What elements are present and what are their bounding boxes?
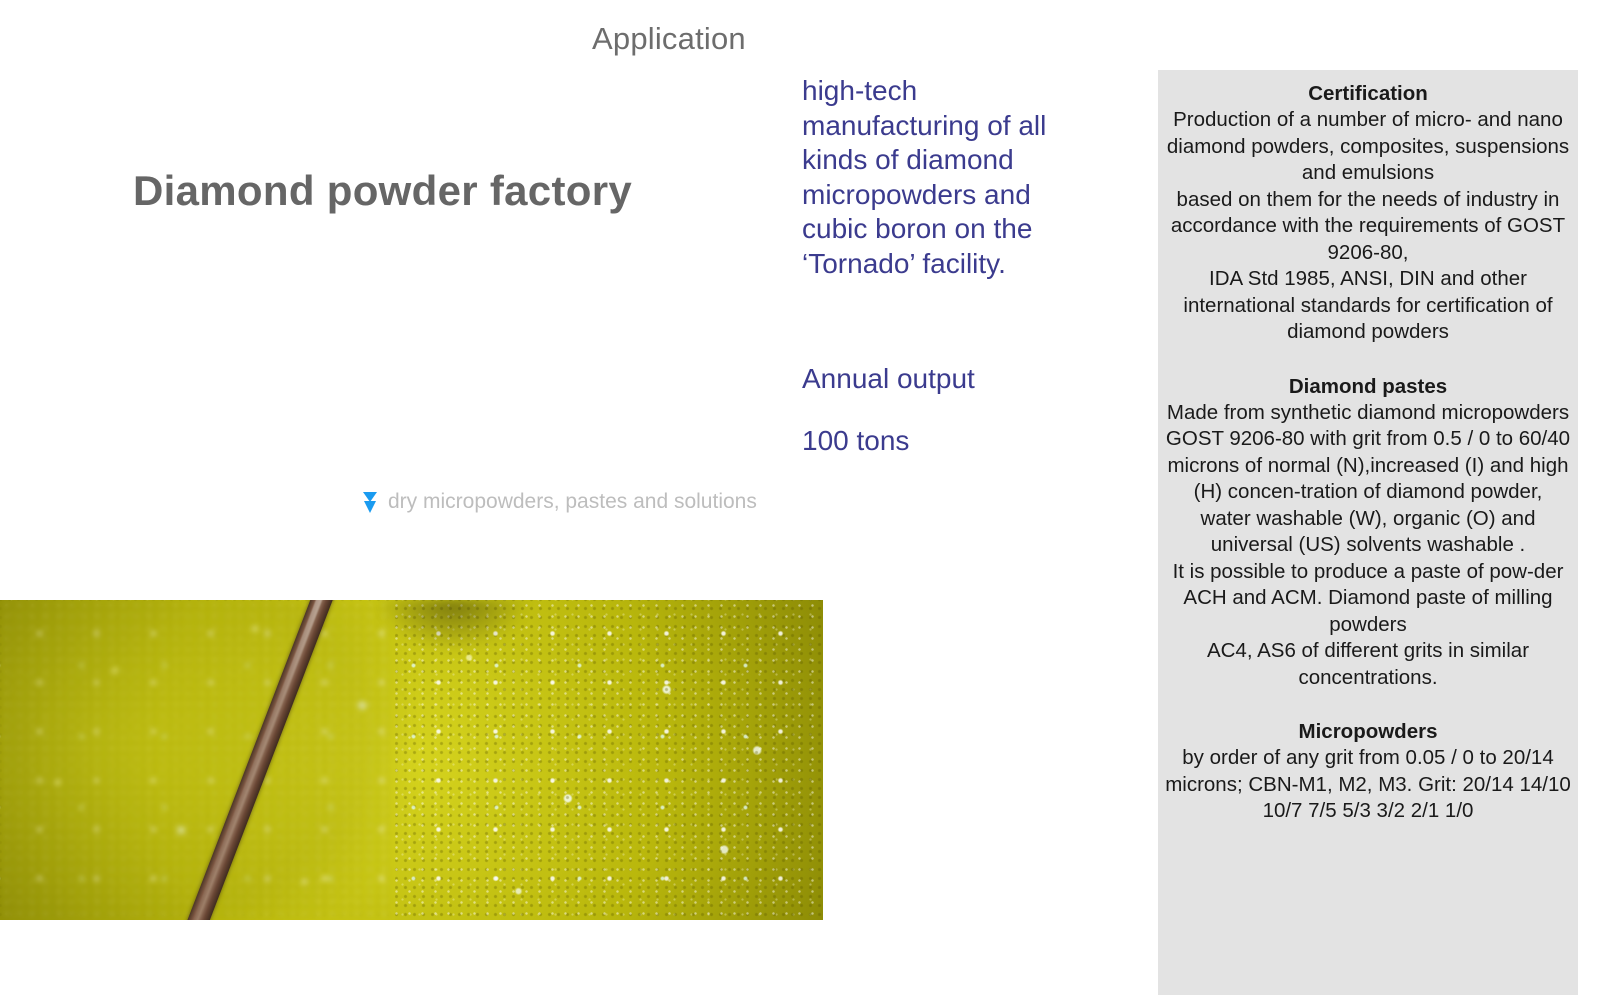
section-heading-certification: Certification bbox=[1160, 80, 1576, 107]
section-body-micropowders: by order of any grit from 0.05 / 0 to 20… bbox=[1160, 745, 1576, 825]
section-heading-micropowders: Micropowders bbox=[1160, 718, 1576, 745]
spacer bbox=[1160, 346, 1576, 373]
specification-panel: Certification Production of a number of … bbox=[1158, 70, 1578, 995]
section-body-diamond-pastes: Made from synthetic diamond micropowders… bbox=[1160, 400, 1576, 692]
photo-defocus-layer bbox=[0, 600, 395, 920]
diamond-powder-photo bbox=[0, 600, 823, 920]
annual-output-label: Annual output bbox=[802, 362, 975, 396]
section-label: Application bbox=[592, 20, 746, 58]
list-item-label: dry micropowders, pastes and solutions bbox=[388, 487, 820, 516]
spacer bbox=[1160, 691, 1576, 718]
list-item: dry micropowders, pastes and solutions bbox=[362, 487, 820, 516]
page-title: Diamond powder factory bbox=[133, 163, 632, 219]
double-chevron-down-icon bbox=[362, 489, 378, 517]
description-block: high-tech manufacturing of all kinds of … bbox=[802, 74, 1076, 281]
section-body-certification: Production of a number of micro- and nan… bbox=[1160, 107, 1576, 346]
annual-output-value: 100 tons bbox=[802, 424, 909, 458]
section-heading-diamond-pastes: Diamond pastes bbox=[1160, 373, 1576, 400]
photo-shadow-layer bbox=[379, 600, 527, 651]
description-paragraph: high-tech manufacturing of all kinds of … bbox=[802, 74, 1076, 281]
